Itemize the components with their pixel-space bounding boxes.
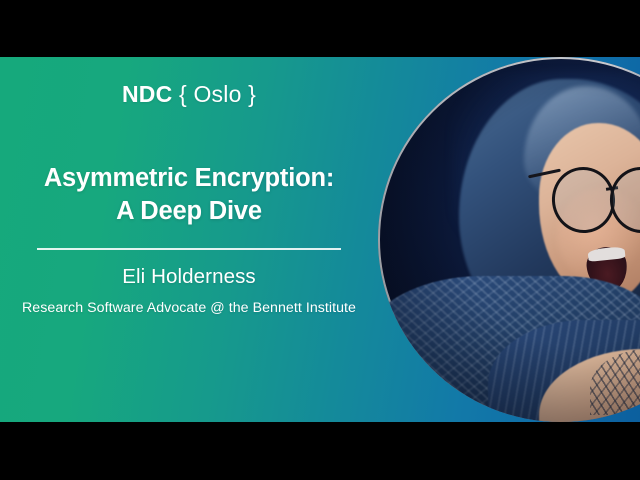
portrait-shirt-fold	[488, 320, 640, 422]
talk-title-line-1: Asymmetric Encryption:	[17, 162, 361, 195]
logo-city-text: Oslo	[193, 81, 241, 107]
portrait-vignette	[378, 57, 640, 422]
logo-brace-close: }	[248, 81, 256, 107]
glasses-lens-right	[606, 162, 640, 236]
title-card-text-column: NDC { Oslo } Asymmetric Encryption: A De…	[0, 57, 378, 422]
speaker-portrait-circle	[378, 57, 640, 422]
logo-brace-open: {	[179, 81, 187, 107]
speaker-name: Eli Holderness	[122, 267, 256, 288]
portrait-cheek	[557, 188, 640, 283]
slide-content-band: NDC { Oslo } Asymmetric Encryption: A De…	[0, 57, 640, 422]
glasses-bridge	[605, 186, 617, 191]
speaker-role: Research Software Advocate @ the Bennett…	[0, 300, 378, 317]
letterbox-bar-top	[0, 0, 640, 57]
logo-ndc-text: NDC	[122, 81, 172, 107]
talk-title-line-2: A Deep Dive	[17, 195, 361, 228]
title-divider-rule	[37, 248, 341, 250]
talk-title: Asymmetric Encryption: A Deep Dive	[17, 162, 361, 228]
ndc-oslo-logo: NDC { Oslo }	[122, 83, 256, 106]
video-thumbnail: NDC { Oslo } Asymmetric Encryption: A De…	[0, 0, 640, 480]
letterbox-bar-bottom	[0, 422, 640, 480]
portrait-teeth	[588, 246, 626, 262]
glasses-temple-arm	[528, 169, 561, 179]
portrait-arm	[539, 349, 640, 422]
portrait-hair-highlight	[524, 86, 640, 210]
portrait-mouth	[584, 245, 629, 293]
portrait-patterned-shirt	[378, 276, 640, 422]
portrait-face	[539, 123, 640, 302]
portrait-hair	[459, 79, 640, 349]
glasses-lens-left	[548, 162, 619, 236]
portrait-arm-tattoo	[590, 349, 640, 415]
portrait-backdrop-glow	[451, 72, 640, 284]
